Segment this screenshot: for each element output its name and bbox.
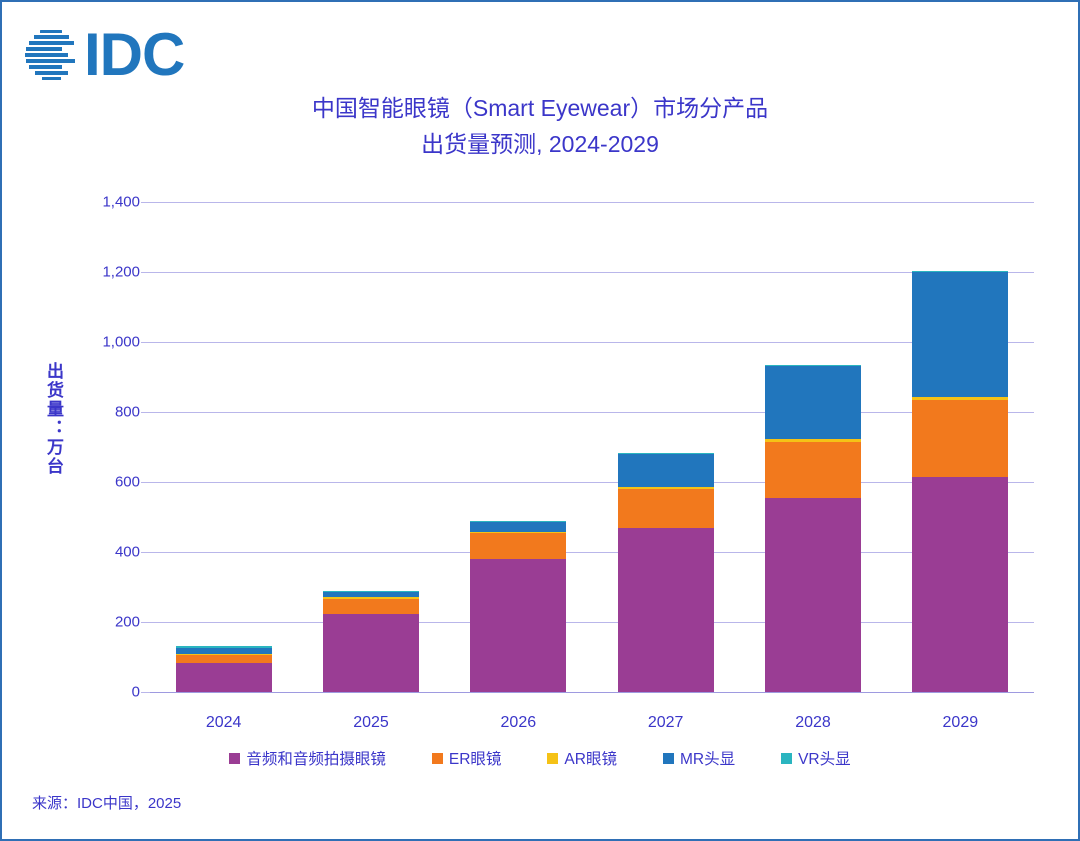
legend-label: ER眼镜 <box>449 747 502 769</box>
bar-segment-2027-series1[interactable] <box>618 489 714 528</box>
bar-segment-2028-series3[interactable] <box>765 366 861 439</box>
y-tickmark-0 <box>141 692 150 693</box>
bar-segment-2028-series2[interactable] <box>765 439 861 442</box>
y-axis-tick-800: 800 <box>115 404 140 421</box>
plot-area: 出货量：万台 02004006008001,0001,2001,400 <box>2 192 1080 712</box>
bar-segment-2025-series3[interactable] <box>323 592 419 597</box>
y-tickmark-1200 <box>141 272 150 273</box>
y-tickmark-800 <box>141 412 150 413</box>
y-axis-tick-400: 400 <box>115 544 140 561</box>
bar-group-2025[interactable] <box>323 192 419 702</box>
bar-segment-2029-series0[interactable] <box>912 477 1008 692</box>
y-tickmark-200 <box>141 622 150 623</box>
bar-segment-2028-series1[interactable] <box>765 442 861 498</box>
x-axis-tick-2025: 2025 <box>297 714 444 732</box>
bar-segment-2026-series0[interactable] <box>470 559 566 692</box>
y-axis-tick-1400: 1,400 <box>102 194 140 211</box>
legend-item-0[interactable]: 音频和音频拍摄眼镜 <box>229 747 386 769</box>
bar-segment-2027-series3[interactable] <box>618 454 714 487</box>
legend-label: VR头显 <box>798 747 851 769</box>
globe-icon <box>24 28 78 82</box>
idc-logo: IDC <box>24 24 184 86</box>
bar-segment-2028-series0[interactable] <box>765 498 861 692</box>
legend-label: AR眼镜 <box>564 747 617 769</box>
bar-segment-2026-series4[interactable] <box>470 521 566 522</box>
bar-segment-2024-series3[interactable] <box>176 648 272 655</box>
bar-stack[interactable] <box>176 646 272 692</box>
bar-group-2026[interactable] <box>470 192 566 702</box>
legend-swatch-icon <box>547 753 558 764</box>
bar-segment-2025-series0[interactable] <box>323 614 419 692</box>
bar-group-2028[interactable] <box>765 192 861 702</box>
legend-swatch-icon <box>432 753 443 764</box>
bar-series-container <box>150 192 1034 702</box>
bar-segment-2029-series2[interactable] <box>912 397 1008 401</box>
idc-logo-text: IDC <box>84 28 184 82</box>
y-axis-tick-0: 0 <box>132 684 140 701</box>
y-axis-tick-1200: 1,200 <box>102 264 140 281</box>
bar-segment-2026-series1[interactable] <box>470 533 566 558</box>
bar-segment-2026-series2[interactable] <box>470 532 566 534</box>
x-axis-tick-2027: 2027 <box>592 714 739 732</box>
bar-segment-2029-series4[interactable] <box>912 271 1008 272</box>
legend-item-1[interactable]: ER眼镜 <box>432 747 502 769</box>
legend-label: 音频和音频拍摄眼镜 <box>246 747 386 769</box>
chart-page: IDC 中国智能眼镜（Smart Eyewear）市场分产品 出货量预测, 20… <box>0 0 1080 841</box>
chart-title: 中国智能眼镜（Smart Eyewear）市场分产品 出货量预测, 2024-2… <box>2 90 1078 162</box>
chart-title-line1: 中国智能眼镜（Smart Eyewear）市场分产品 <box>312 95 768 121</box>
bar-segment-2029-series1[interactable] <box>912 400 1008 476</box>
legend-item-3[interactable]: MR头显 <box>663 747 735 769</box>
y-axis-tick-600: 600 <box>115 474 140 491</box>
legend-swatch-icon <box>663 753 674 764</box>
chart-legend: 音频和音频拍摄眼镜ER眼镜AR眼镜MR头显VR头显 <box>2 747 1078 769</box>
legend-swatch-icon <box>781 753 792 764</box>
bar-segment-2027-series4[interactable] <box>618 453 714 454</box>
bar-segment-2024-series0[interactable] <box>176 663 272 692</box>
bar-segment-2024-series1[interactable] <box>176 655 272 663</box>
bar-stack[interactable] <box>323 591 419 693</box>
y-tickmark-400 <box>141 552 150 553</box>
x-axis-tick-2029: 2029 <box>887 714 1034 732</box>
bar-segment-2025-series4[interactable] <box>323 591 419 592</box>
bar-stack[interactable] <box>618 453 714 692</box>
bar-segment-2025-series1[interactable] <box>323 599 419 615</box>
y-axis-tick-200: 200 <box>115 614 140 631</box>
bar-segment-2028-series4[interactable] <box>765 365 861 366</box>
legend-item-4[interactable]: VR头显 <box>781 747 851 769</box>
chart-title-line2: 出货量预测, 2024-2029 <box>2 126 1078 162</box>
bar-group-2027[interactable] <box>618 192 714 702</box>
y-axis-tick-labels: 02004006008001,0001,2001,400 <box>62 192 146 702</box>
bar-stack[interactable] <box>765 365 861 692</box>
bar-segment-2026-series3[interactable] <box>470 522 566 532</box>
y-tickmark-1000 <box>141 342 150 343</box>
bar-segment-2024-series4[interactable] <box>176 646 272 648</box>
y-axis-tick-1000: 1,000 <box>102 334 140 351</box>
x-axis-tick-2028: 2028 <box>739 714 886 732</box>
source-note: 来源：IDC中国，2025 <box>32 792 181 813</box>
y-tickmark-600 <box>141 482 150 483</box>
legend-label: MR头显 <box>680 747 735 769</box>
bar-group-2024[interactable] <box>176 192 272 702</box>
bar-stack[interactable] <box>470 521 566 693</box>
bar-segment-2027-series2[interactable] <box>618 487 714 489</box>
legend-swatch-icon <box>229 753 240 764</box>
x-axis-tick-labels: 202420252026202720282029 <box>150 714 1034 740</box>
bar-segment-2027-series0[interactable] <box>618 528 714 692</box>
bar-segment-2025-series2[interactable] <box>323 597 419 598</box>
bar-segment-2024-series2[interactable] <box>176 654 272 655</box>
x-axis-tick-2026: 2026 <box>445 714 592 732</box>
legend-item-2[interactable]: AR眼镜 <box>547 747 617 769</box>
bar-segment-2029-series3[interactable] <box>912 272 1008 397</box>
bar-stack[interactable] <box>912 271 1008 692</box>
bar-group-2029[interactable] <box>912 192 1008 702</box>
x-axis-tick-2024: 2024 <box>150 714 297 732</box>
y-tickmark-1400 <box>141 202 150 203</box>
